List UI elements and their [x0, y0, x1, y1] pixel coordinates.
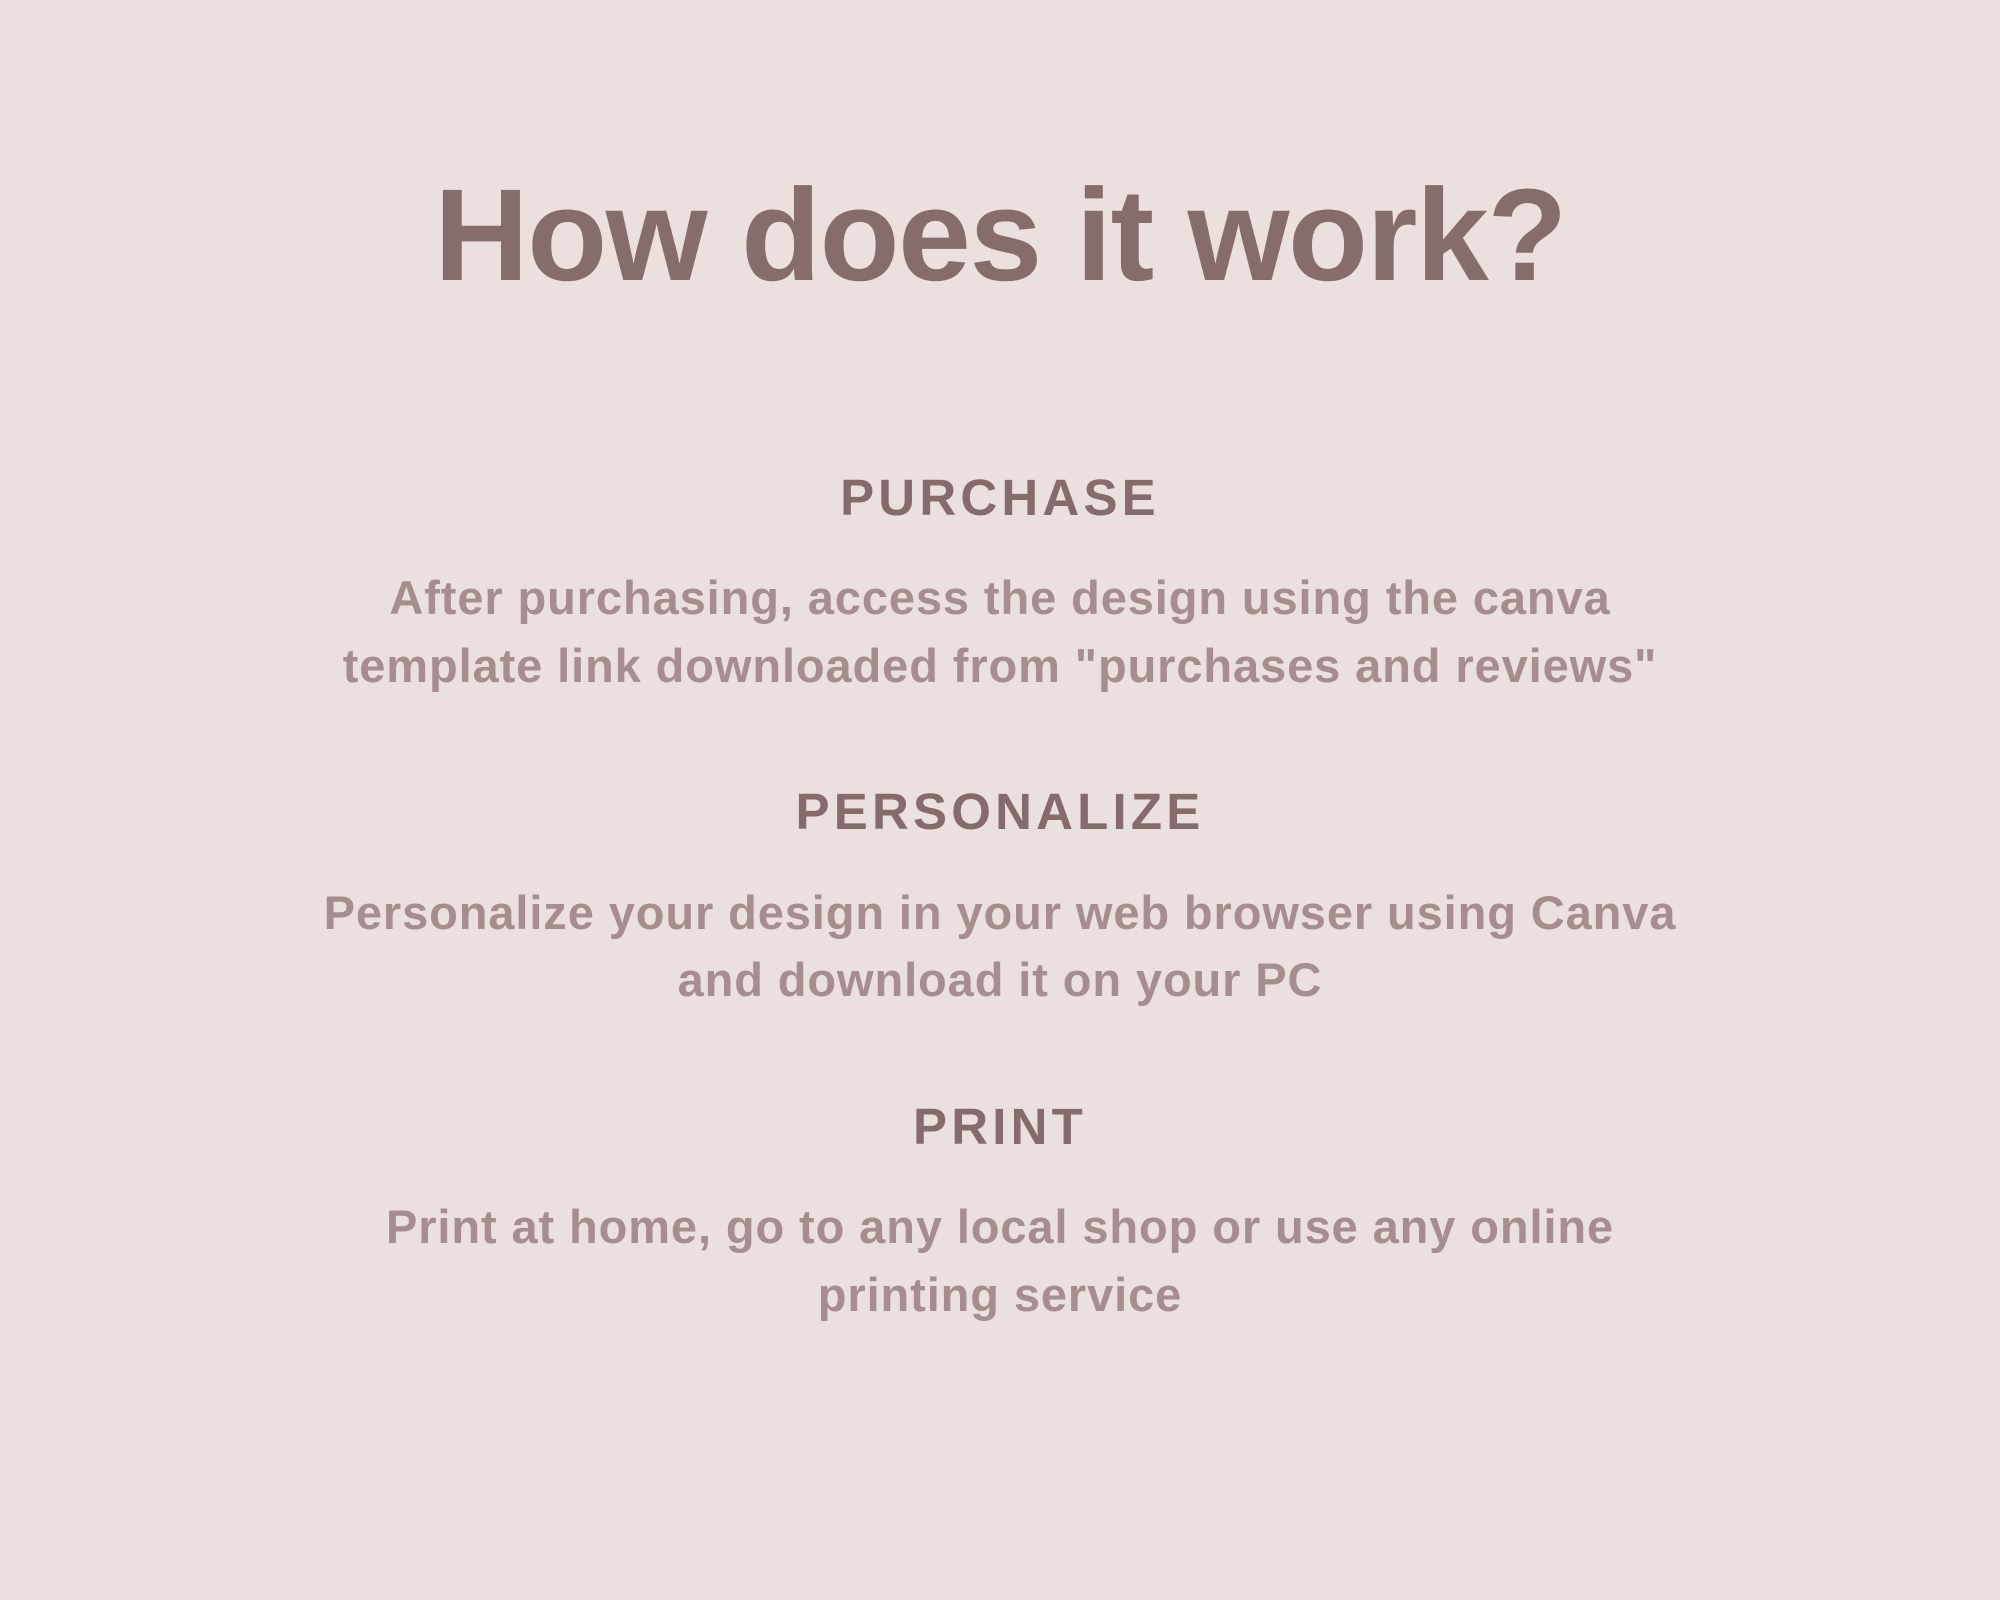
step-body-line: After purchasing, access the design usin… [190, 564, 1810, 632]
step-body-line: Print at home, go to any local shop or u… [190, 1193, 1810, 1261]
steps-list: PURCHASE After purchasing, access the de… [0, 470, 2000, 1328]
step-heading-purchase: PURCHASE [0, 470, 2000, 526]
step-print: PRINT Print at home, go to any local sho… [0, 1099, 2000, 1328]
step-body-purchase: After purchasing, access the design usin… [190, 564, 1810, 699]
poster-canvas: How does it work? PURCHASE After purchas… [0, 0, 2000, 1600]
step-heading-personalize: PERSONALIZE [0, 784, 2000, 840]
page-title: How does it work? [0, 162, 2000, 309]
step-heading-print: PRINT [0, 1099, 2000, 1155]
step-body-print: Print at home, go to any local shop or u… [190, 1193, 1810, 1328]
step-personalize: PERSONALIZE Personalize your design in y… [0, 784, 2000, 1013]
step-body-personalize: Personalize your design in your web brow… [190, 879, 1810, 1014]
step-body-line: and download it on your PC [190, 946, 1810, 1014]
step-purchase: PURCHASE After purchasing, access the de… [0, 470, 2000, 699]
step-body-line: template link downloaded from "purchases… [190, 632, 1810, 700]
step-body-line: printing service [190, 1261, 1810, 1329]
step-body-line: Personalize your design in your web brow… [190, 879, 1810, 947]
